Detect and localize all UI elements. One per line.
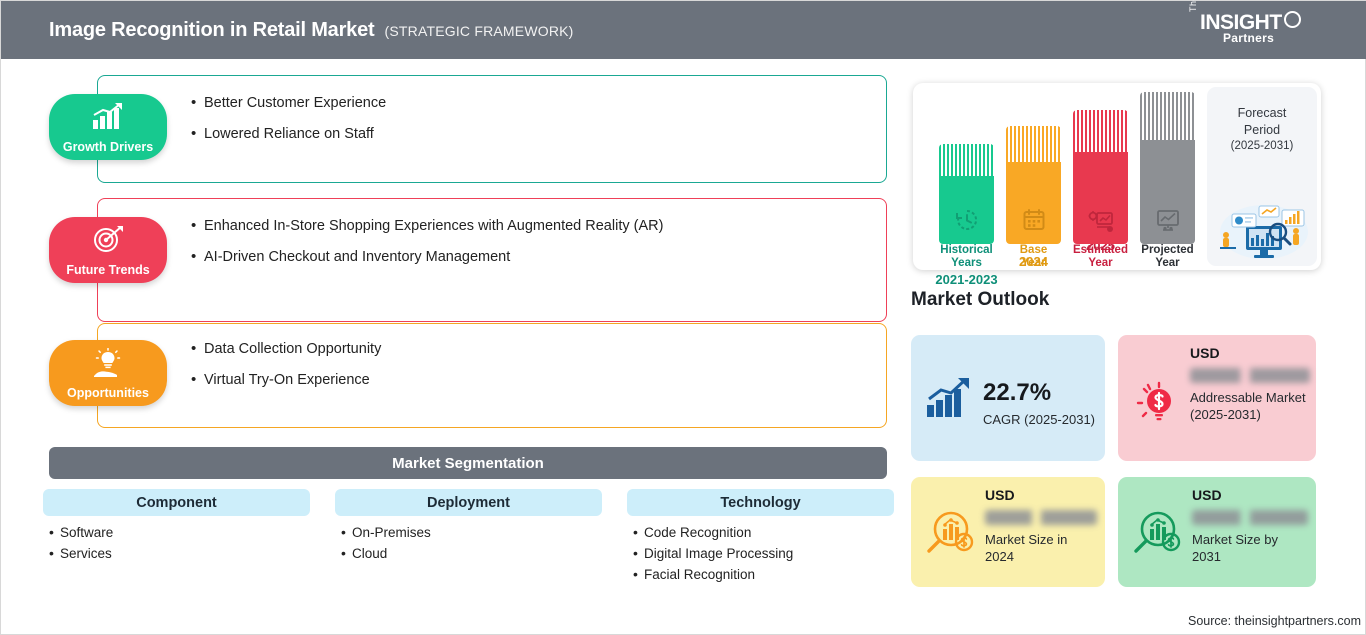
page-title: Image Recognition in Retail Market(STRAT… — [49, 19, 574, 42]
segmentation-list: Code Recognition Digital Image Processin… — [627, 523, 894, 586]
card-caption: Market Size by 2031 — [1192, 531, 1308, 565]
growth-chart-icon — [91, 102, 125, 130]
growth-drivers-bullets: Better Customer Experience Lowered Relia… — [191, 94, 861, 155]
target-dart-icon — [92, 225, 124, 253]
lightbulb-dollar-icon — [1134, 379, 1180, 425]
forecast-bar-chart: 2021-2023 HistoricalYears 2024 — [927, 83, 1177, 270]
list-item: Software — [49, 523, 310, 544]
list-item: Services — [49, 544, 310, 565]
list-item: Digital Image Processing — [633, 544, 894, 565]
analytics-gear-icon — [1088, 210, 1114, 232]
page-title-text: Image Recognition in Retail Market — [49, 19, 375, 41]
card-caption: Market Size in 2024 — [985, 531, 1097, 565]
bar-stripe-top — [1006, 126, 1061, 162]
lightbulb-hand-icon — [91, 348, 125, 378]
card-usd-label: USD — [1190, 345, 1310, 361]
list-item: Facial Recognition — [633, 565, 894, 586]
bar-stripe-top — [1140, 92, 1195, 140]
bar-shape — [1073, 110, 1128, 244]
card-caption: Addressable Market (2025-2031) — [1190, 389, 1310, 423]
redacted-value — [985, 510, 1097, 525]
list-item: Data Collection Opportunity — [191, 340, 861, 360]
bar-year-label: 2021-2023 — [935, 272, 997, 287]
segmentation-list: Software Services — [43, 523, 310, 565]
segmentation-header: Component — [43, 489, 310, 516]
growth-drivers-label: Growth Drivers — [63, 140, 153, 154]
growth-bar-arrow-icon — [925, 377, 973, 419]
forecast-period-panel: Forecast Period (2025-2031) — [1207, 87, 1317, 266]
segmentation-column-deployment: Deployment On-Premises Cloud — [335, 489, 602, 586]
opportunities-bullets: Data Collection Opportunity Virtual Try-… — [191, 340, 861, 401]
list-item: AI-Driven Checkout and Inventory Managem… — [191, 248, 871, 268]
magnifier-bars-dollar-icon — [1130, 509, 1182, 559]
bar-category-label: BaseYear — [1020, 244, 1048, 270]
calendar-icon — [1022, 208, 1046, 232]
outlook-card-addressable-market: USD Addressable Market (2025-2031) — [1118, 335, 1316, 461]
bar-stripe-top — [939, 144, 994, 176]
growth-drivers-badge[interactable]: Growth Drivers — [49, 94, 167, 160]
cagr-value: 22.7% — [983, 379, 1095, 407]
bar-shape — [1140, 92, 1195, 244]
bar-category-label: ProjectedYear — [1141, 244, 1193, 270]
card-usd-label: USD — [1192, 487, 1308, 503]
card-usd-label: USD — [985, 487, 1097, 503]
forecast-period-text: Forecast Period (2025-2031) — [1207, 105, 1317, 154]
logo-circle-icon — [1284, 11, 1301, 28]
redacted-value — [1192, 510, 1308, 525]
future-trends-label: Future Trends — [66, 263, 149, 277]
page-subtitle: (STRATEGIC FRAMEWORK) — [385, 23, 574, 39]
opportunities-badge[interactable]: Opportunities — [49, 340, 167, 406]
list-item: Lowered Reliance on Staff — [191, 125, 861, 145]
left-content-column: Growth Drivers Better Customer Experienc… — [1, 59, 901, 635]
outlook-card-cagr: 22.7% CAGR (2025-2031) — [911, 335, 1105, 461]
list-item: On-Premises — [341, 523, 602, 544]
segmentation-header: Technology — [627, 489, 894, 516]
right-content-column: 2021-2023 HistoricalYears 2024 — [906, 59, 1366, 635]
forecast-years: (2025-2031) — [1207, 139, 1317, 155]
forecast-label-line2: Period — [1207, 122, 1317, 139]
source-text: Source: theinsightpartners.com — [1188, 614, 1361, 628]
segmentation-column-technology: Technology Code Recognition Digital Imag… — [627, 489, 894, 586]
bar-shape — [1006, 126, 1061, 244]
magnifier-bars-dollar-icon — [923, 509, 975, 559]
bar-stripe-top — [1073, 110, 1128, 152]
redacted-value — [1190, 368, 1310, 383]
bar-shape — [939, 144, 994, 244]
page-header: Image Recognition in Retail Market(STRAT… — [1, 1, 1366, 59]
opportunities-label: Opportunities — [67, 386, 149, 400]
list-item: Cloud — [341, 544, 602, 565]
outlook-card-market-size-2031: USD Market Size by 2031 — [1118, 477, 1316, 587]
insight-partners-logo: The INSIGHT Partners — [1189, 10, 1309, 50]
segmentation-list: On-Premises Cloud — [335, 523, 602, 565]
forecast-period-card: 2021-2023 HistoricalYears 2024 — [913, 83, 1321, 270]
history-clock-icon — [955, 208, 979, 232]
future-trends-badge[interactable]: Future Trends — [49, 217, 167, 283]
outlook-card-market-size-2024: USD Market Size in 2024 — [911, 477, 1105, 587]
market-outlook-title: Market Outlook — [911, 289, 1049, 311]
list-item: Virtual Try-On Experience — [191, 371, 861, 391]
segmentation-column-component: Component Software Services — [43, 489, 310, 586]
segmentation-header: Deployment — [335, 489, 602, 516]
bar-category-label: EstimatedYear — [1073, 244, 1128, 270]
logo-the-text: The — [1189, 0, 1198, 12]
segmentation-columns: Component Software Services Deployment O… — [43, 489, 895, 586]
data-analytics-illustration — [1212, 198, 1312, 260]
future-trends-bullets: Enhanced In-Store Shopping Experiences w… — [191, 217, 871, 278]
forecast-label-line1: Forecast — [1207, 105, 1317, 122]
infographic-page: Image Recognition in Retail Market(STRAT… — [0, 0, 1366, 635]
cagr-caption: CAGR (2025-2031) — [983, 411, 1095, 428]
bar-category-label: HistoricalYears — [940, 244, 992, 270]
presentation-screen-icon — [1155, 208, 1181, 232]
list-item: Code Recognition — [633, 523, 894, 544]
logo-partners-text: Partners — [1223, 31, 1274, 45]
list-item: Better Customer Experience — [191, 94, 861, 114]
market-segmentation-title: Market Segmentation — [49, 447, 887, 479]
list-item: Enhanced In-Store Shopping Experiences w… — [191, 217, 871, 237]
